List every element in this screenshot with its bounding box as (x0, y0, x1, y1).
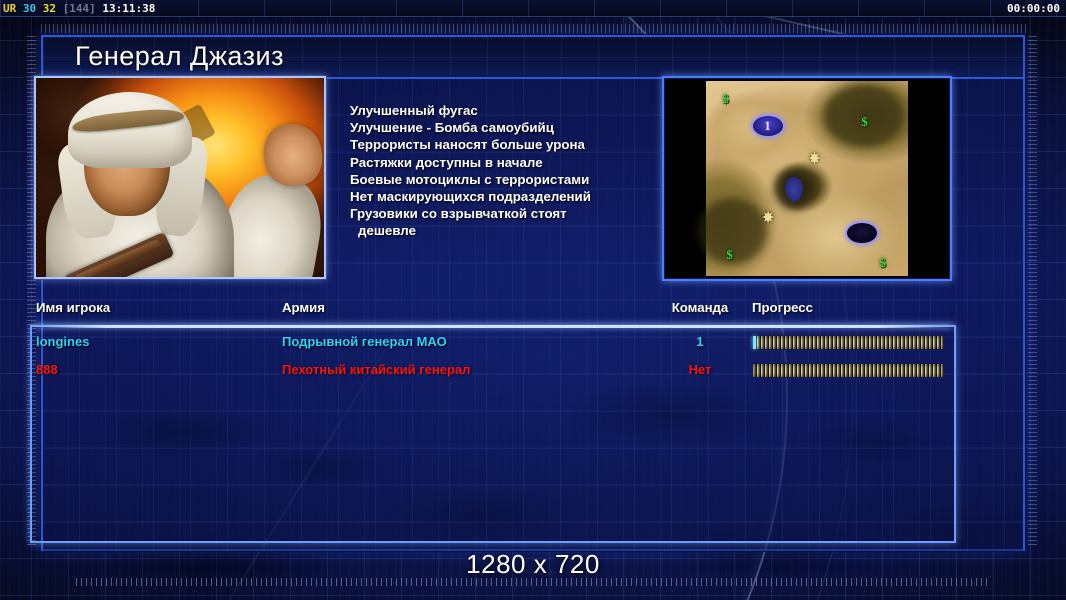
minimap-supply-icon: $ (861, 114, 868, 130)
minimap-supply-icon: $ (880, 255, 887, 271)
netstat-num1: 30 (23, 2, 36, 15)
description-line: Террористы наносят больше урона (350, 136, 655, 153)
description-line: Улучшение - Бомба самоубийц (350, 119, 655, 136)
netstat-tag: UR (3, 2, 16, 15)
description-line: Растяжки доступны в начале (350, 154, 655, 171)
status-bar-left: UR 30 32 [144] 13:11:38 (3, 0, 155, 17)
description-line: Боевые мотоциклы с террористами (350, 171, 655, 188)
table-header-divider (34, 325, 952, 328)
page-title: Генерал Джазиз (43, 37, 1023, 72)
netstat-num2: 32 (43, 2, 56, 15)
status-bar-ticks (0, 0, 1066, 17)
minimap-inner: 1 $ $ $ $ ✵ ✵ (667, 81, 947, 276)
player-progress-bar (752, 335, 944, 350)
description-line: Нет маскирующихся подразделений (350, 188, 655, 205)
frame-ruler-top (41, 24, 1027, 33)
minimap: 1 $ $ $ $ ✵ ✵ (662, 76, 952, 281)
minimap-oil-icon: ✵ (763, 208, 774, 226)
player-army: Пехотный китайский генерал (282, 362, 470, 377)
minimap-supply-icon: $ (722, 91, 729, 107)
minimap-terrain: 1 $ $ $ $ ✵ ✵ (706, 81, 908, 276)
column-header-team: Команда (664, 300, 736, 315)
description-line: Улучшенный фугас (350, 102, 655, 119)
loading-screen: UR 30 32 [144] 13:11:38 00:00:00 Генерал… (0, 0, 1066, 600)
progress-tip (753, 336, 756, 349)
general-info-row: Улучшенный фугас Улучшение - Бомба самоу… (34, 76, 952, 284)
table-row: longines Подрывной генерал МАО 1 (34, 332, 952, 356)
match-timer: 00:00:00 (1007, 0, 1060, 17)
column-header-army: Армия (282, 300, 325, 315)
resolution-label: 1280 x 720 (0, 549, 1066, 580)
status-bar: UR 30 32 [144] 13:11:38 00:00:00 (0, 0, 1066, 17)
player-team: 1 (664, 334, 736, 349)
description-line: Грузовики со взрывчаткой стоят (350, 205, 655, 222)
player-progress-bar (752, 363, 944, 378)
column-header-name: Имя игрока (36, 300, 110, 315)
description-line: дешевле (350, 222, 655, 239)
minimap-start-position (845, 221, 879, 245)
column-header-progress: Прогресс (752, 300, 813, 315)
minimap-supply-icon: $ (726, 247, 733, 263)
general-portrait (34, 76, 326, 279)
table-header-row: Имя игрока Армия Команда Прогресс (34, 300, 952, 324)
netstat-bracket: [144] (63, 2, 96, 15)
window-title-bar: Генерал Джазиз (43, 37, 1023, 79)
progress-fill (753, 364, 943, 377)
player-table: Имя игрока Армия Команда Прогресс longin… (34, 300, 952, 384)
minimap-oil-icon: ✵ (809, 150, 820, 168)
player-name: longines (36, 334, 89, 349)
progress-fill (753, 336, 943, 349)
system-clock: 13:11:38 (102, 2, 155, 15)
minimap-start-position: 1 (751, 114, 785, 138)
general-description-list: Улучшенный фугас Улучшение - Бомба самоу… (350, 102, 655, 240)
player-army: Подрывной генерал МАО (282, 334, 447, 349)
frame-ruler-right (1028, 36, 1037, 548)
player-name: 888 (36, 362, 58, 377)
player-team: Нет (664, 362, 736, 377)
table-row: 888 Пехотный китайский генерал Нет (34, 360, 952, 384)
